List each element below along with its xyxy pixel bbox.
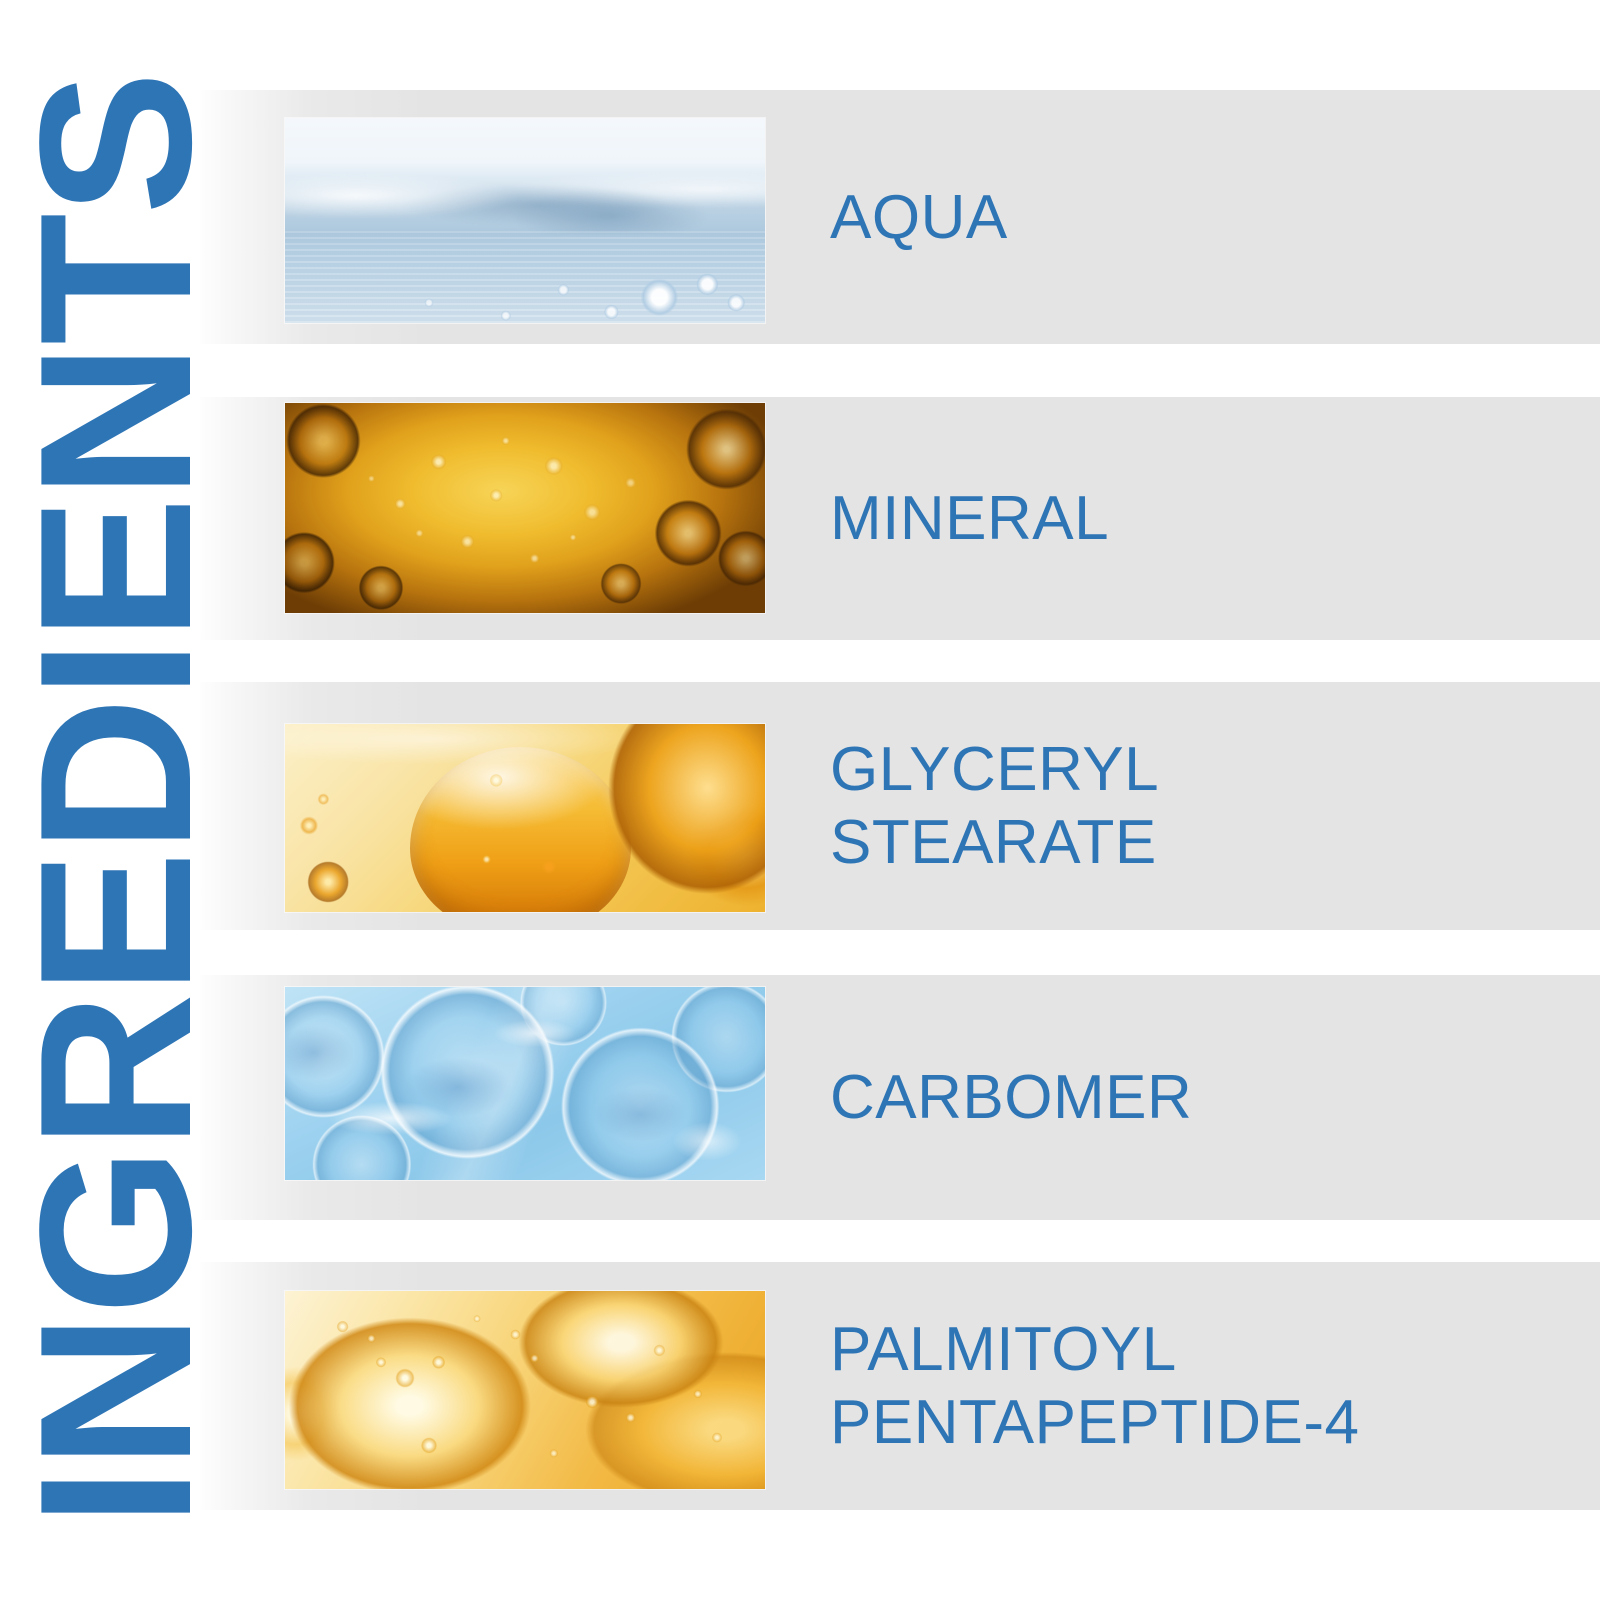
- ingredient-label: CARBOMER: [830, 1061, 1580, 1134]
- side-title-container: INGREDIENTS: [0, 0, 230, 1600]
- ingredients-infographic: INGREDIENTS AQUAMINERALGLYCERYL STEARATE…: [0, 0, 1600, 1600]
- ingredient-image: [285, 403, 765, 613]
- ingredient-row: MINERAL: [200, 397, 1600, 640]
- ingredient-image: [285, 987, 765, 1180]
- ingredient-row: AQUA: [200, 90, 1600, 344]
- ingredient-row: PALMITOYL PENTAPEPTIDE-4: [200, 1262, 1600, 1510]
- ingredient-image: [285, 118, 765, 323]
- page-title-vertical: INGREDIENTS: [7, 73, 223, 1527]
- ingredient-label: PALMITOYL PENTAPEPTIDE-4: [830, 1313, 1580, 1459]
- ingredient-label: GLYCERYL STEARATE: [830, 733, 1580, 879]
- water-surface-photo: [285, 118, 765, 323]
- glyceryl-stearate-droplet-photo: [285, 724, 765, 912]
- ingredient-image: [285, 1291, 765, 1489]
- ingredient-label: AQUA: [830, 181, 1580, 254]
- ingredient-image: [285, 724, 765, 912]
- palmitoyl-pentapeptide-serum-photo: [285, 1291, 765, 1489]
- carbomer-gel-bubbles-photo: [285, 987, 765, 1180]
- ingredient-row: GLYCERYL STEARATE: [200, 682, 1600, 930]
- ingredient-label: MINERAL: [830, 482, 1580, 555]
- mineral-oil-bubbles-photo: [285, 403, 765, 613]
- ingredient-row: CARBOMER: [200, 975, 1600, 1220]
